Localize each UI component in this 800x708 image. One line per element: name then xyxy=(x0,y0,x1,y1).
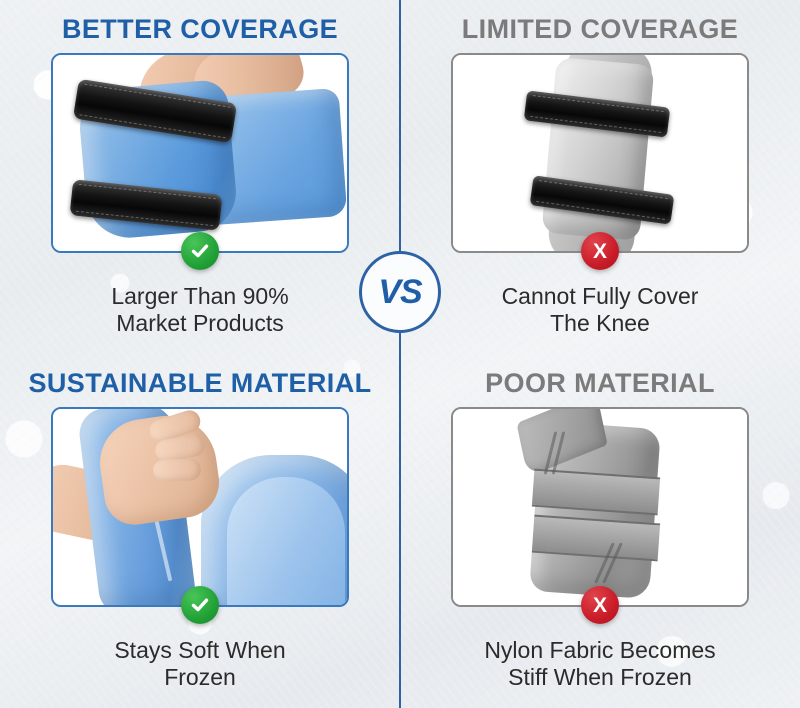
product-photo-blue-knee-wrap xyxy=(53,55,347,251)
product-card-poor-material: X xyxy=(451,407,749,607)
product-photo-soft-gel-squeeze xyxy=(53,409,347,605)
panel-caption-poor-material: Nylon Fabric Becomes Stiff When Frozen xyxy=(484,637,715,690)
finger-shape xyxy=(153,458,202,482)
panel-bottom-right: POOR MATERIAL X Nylon Fabric Becomes Sti… xyxy=(400,354,800,708)
product-card-limited-coverage: X xyxy=(451,53,749,253)
panel-caption-sustainable-material: Stays Soft When Frozen xyxy=(114,637,285,690)
panel-caption-limited-coverage: Cannot Fully Cover The Knee xyxy=(502,283,699,336)
panel-top-left: BETTER COVERAGE Larger Than 90% Market P… xyxy=(0,0,400,354)
check-badge xyxy=(181,232,219,270)
panel-heading-better-coverage: BETTER COVERAGE xyxy=(62,16,338,43)
product-card-sustainable-material xyxy=(51,407,349,607)
panel-bottom-left: SUSTAINABLE MATERIAL Stays Soft When Fro… xyxy=(0,354,400,708)
vertical-divider xyxy=(399,0,401,708)
panel-heading-sustainable-material: SUSTAINABLE MATERIAL xyxy=(29,370,372,397)
cross-badge: X xyxy=(581,586,619,624)
check-badge xyxy=(181,586,219,624)
panel-heading-poor-material: POOR MATERIAL xyxy=(485,370,715,397)
gel-shell-shape xyxy=(201,455,347,605)
product-photo-gray-sleeve xyxy=(453,55,747,251)
cross-badge: X xyxy=(581,232,619,270)
vs-badge-label: VS xyxy=(378,275,421,309)
cross-badge-label: X xyxy=(593,595,607,616)
panel-heading-limited-coverage: LIMITED COVERAGE xyxy=(462,16,738,43)
cross-badge-label: X xyxy=(593,241,607,262)
panel-top-right: LIMITED COVERAGE X Cannot Fully Cover Th… xyxy=(400,0,800,354)
product-card-better-coverage xyxy=(51,53,349,253)
panel-caption-better-coverage: Larger Than 90% Market Products xyxy=(111,283,288,336)
vs-badge: VS xyxy=(359,251,441,333)
product-photo-stiff-nylon-brace xyxy=(453,409,747,605)
